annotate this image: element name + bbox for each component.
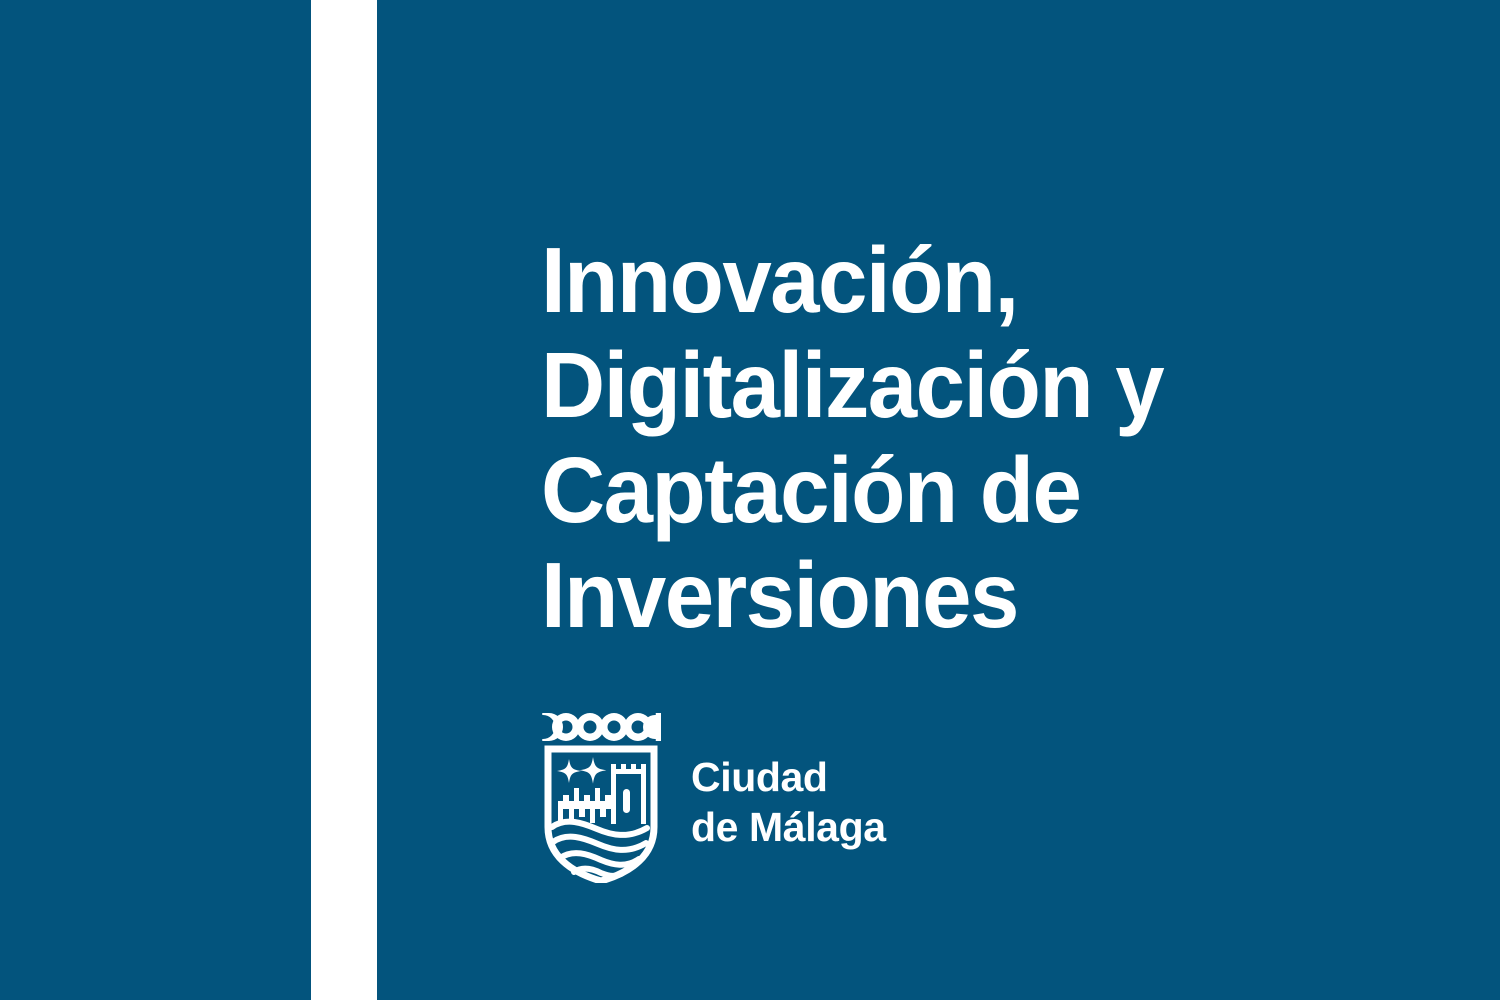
- logo-wordmark-line-1: Ciudad: [691, 752, 886, 802]
- headline-line-3: Captación de: [541, 438, 1286, 543]
- crown-band-icon: [542, 713, 661, 741]
- ciudad-de-malaga-logo: Ciudad de Málaga: [541, 711, 886, 883]
- logo-wordmark: Ciudad de Málaga: [691, 752, 886, 852]
- shield-crest-icon: [541, 711, 661, 883]
- slide-canvas: Innovación, Digitalización y Captación d…: [0, 0, 1500, 1000]
- star-right-icon: [580, 757, 607, 784]
- headline-line-4: Inversiones: [541, 543, 1286, 648]
- headline-line-2: Digitalización y: [541, 333, 1286, 438]
- tower-window: [623, 789, 630, 813]
- page-title: Innovación, Digitalización y Captación d…: [541, 228, 1321, 648]
- castle-wall-icon: [558, 788, 616, 823]
- star-left-icon: [557, 759, 581, 783]
- accent-stripe: [311, 0, 377, 1000]
- logo-wordmark-line-2: de Málaga: [691, 802, 886, 852]
- headline-line-1: Innovación,: [541, 228, 1286, 333]
